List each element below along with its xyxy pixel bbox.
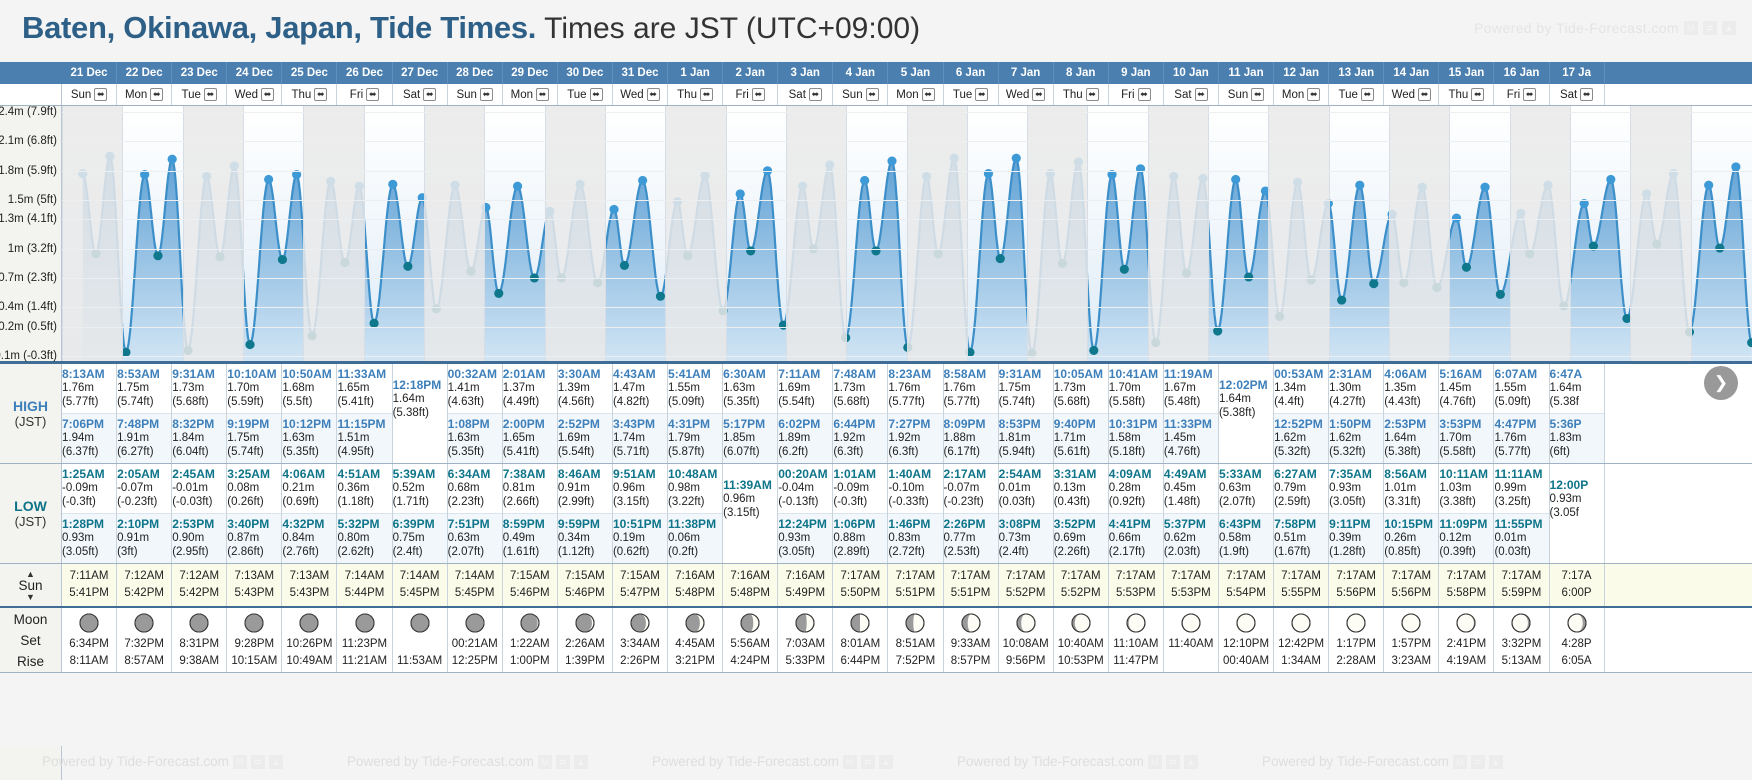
tide-height-m: 0.13m (1054, 481, 1108, 495)
tide-height-ft: (4.43ft) (1384, 395, 1438, 409)
weekday-cell: Wed⬌ (1384, 84, 1439, 105)
logo-badge-3: ▲ (574, 755, 588, 769)
day-stripe (1389, 106, 1449, 361)
tide-height-ft: (6.27ft) (117, 445, 171, 459)
weekday-text: Sun (1228, 84, 1248, 106)
weekday-cell: Sat⬌ (393, 84, 448, 105)
expand-icon[interactable]: ⬌ (150, 88, 163, 101)
moon-phase-icon (298, 612, 320, 634)
tide-time: 3:25AM (227, 467, 281, 481)
sunrise-time: 7:17AM (833, 568, 887, 585)
tide-height-m: 0.84m (282, 531, 336, 545)
sunrise-time: 7:17AM (1384, 568, 1438, 585)
tide-time: 00:32AM (448, 367, 502, 381)
tide-time: 3:53PM (1439, 417, 1493, 431)
tide-column: 7:38AM0.81m(2.66ft)8:59PM0.49m(1.61ft) (503, 464, 558, 563)
moonset-time: 9:33AM (944, 636, 998, 653)
tide-height-m: 1.64m (1384, 431, 1438, 445)
tide-height-m: 1.76m (944, 381, 998, 395)
tide-height-ft: (6.04ft) (172, 445, 226, 459)
date-header-cell[interactable]: 27 Dec (393, 62, 448, 84)
low-tide-point (494, 289, 503, 298)
sun-cell: 7:15AM5:46PM (503, 564, 558, 606)
tide-height-ft: (5.38ft) (1384, 445, 1438, 459)
date-header-cell[interactable]: 31 Dec (613, 62, 668, 84)
date-header-cell[interactable]: 8 Jan (1054, 62, 1109, 84)
sunset-time: 5:51PM (944, 585, 998, 602)
expand-icon[interactable]: ⬌ (1523, 88, 1536, 101)
tide-entry: 4:47PM1.76m(5.77ft) (1494, 413, 1548, 463)
tide-time: 7:48PM (117, 417, 171, 431)
day-stripe (1510, 106, 1570, 361)
weekday-cell: Wed⬌ (999, 84, 1054, 105)
moon-cell: 10:26PM10:49AM (282, 608, 337, 672)
moon-cell: 3:34AM2:26PM (613, 608, 668, 672)
sunset-time: 5:48PM (668, 585, 722, 602)
tide-height-ft: (5.35ft) (282, 445, 336, 459)
tide-height-ft: (2.53ft) (944, 545, 998, 559)
sunset-time: 5:53PM (1109, 585, 1163, 602)
date-header-cell[interactable]: 7 Jan (999, 62, 1054, 84)
tide-height-ft: (5.38f (1550, 395, 1604, 409)
logo-badge-3: ▲ (1184, 755, 1198, 769)
date-header-cell[interactable]: 9 Jan (1109, 62, 1164, 84)
tide-height-m: 1.47m (613, 381, 667, 395)
tide-time: 2:00PM (503, 417, 557, 431)
tide-time: 6:44PM (833, 417, 887, 431)
tide-column: 8:53AM1.75m(5.74ft)7:48PM1.91m(6.27ft) (117, 364, 172, 463)
moon-phase-icon (904, 612, 926, 634)
moon-cell: 4:45AM3:21PM (668, 608, 723, 672)
tide-time: 7:51PM (448, 517, 502, 531)
sun-cell: 7:17AM5:58PM (1439, 564, 1494, 606)
date-header-cell[interactable]: 16 Jan (1494, 62, 1549, 84)
weekday-cell: Mon⬌ (888, 84, 943, 105)
date-header-cell[interactable]: 11 Jan (1219, 62, 1274, 84)
moon-cell: 3:32PM5:13AM (1494, 608, 1549, 672)
weekday-cell: Sun⬌ (1219, 84, 1274, 105)
expand-icon[interactable]: ⬌ (1361, 88, 1374, 101)
moonrise-time: 6:44PM (833, 653, 887, 670)
tide-height-m: 1.55m (668, 381, 722, 395)
date-header-cell[interactable]: 10 Jan (1164, 62, 1219, 84)
tide-height-ft: (5.68ft) (172, 395, 226, 409)
moonset-time: 12:10PM (1219, 636, 1273, 653)
tide-entry: 8:59PM0.49m(1.61ft) (503, 513, 557, 563)
tide-entry: 10:15PM0.26m(0.85ft) (1384, 513, 1438, 563)
expand-icon[interactable]: ⬌ (204, 88, 217, 101)
grid-line (1208, 106, 1209, 361)
expand-icon[interactable]: ⬌ (590, 88, 603, 101)
tide-time: 1:46PM (888, 517, 942, 531)
sun-cell: 7:15AM5:47PM (613, 564, 668, 606)
date-header-cell[interactable]: 23 Dec (172, 62, 227, 84)
date-header-cell[interactable]: 22 Dec (117, 62, 172, 84)
moon-phase-icon (188, 612, 210, 634)
weekday-text: Sat (789, 84, 806, 106)
tide-height-ft: (5.74ft) (227, 445, 281, 459)
date-header-cell[interactable]: 15 Jan (1439, 62, 1494, 84)
tide-height-ft: (0.62ft) (613, 545, 667, 559)
y-axis-tick: 0.7m (2.3ft) (0, 272, 57, 284)
weekday-cell: Thu⬌ (1439, 84, 1494, 105)
date-header-cell[interactable]: 25 Dec (282, 62, 337, 84)
tide-column: 8:23AM1.76m(5.77ft)7:27PM1.92m(6.3ft) (888, 364, 943, 463)
day-stripe (545, 106, 605, 361)
tide-height-m: 1.92m (888, 431, 942, 445)
tide-time: 4:32PM (282, 517, 336, 531)
high-tide-point (168, 155, 177, 164)
grid-line (907, 106, 908, 361)
tide-time: 7:27PM (888, 417, 942, 431)
tide-column: 00:32AM1.41m(4.63ft)1:08PM1.63m(5.35ft) (448, 364, 503, 463)
tide-entry: 8:13AM1.76m(5.77ft) (62, 364, 116, 413)
sunrise-time: 7:17AM (1219, 568, 1273, 585)
y-axis-tick: 0.4m (1.4ft) (0, 301, 57, 313)
tide-entry: 11:55PM0.01m(0.03ft) (1494, 513, 1548, 563)
date-header-cell[interactable]: 28 Dec (448, 62, 503, 84)
y-axis-tick: 0.2m (0.5ft) (0, 321, 57, 333)
moonrise-time: 1:00PM (503, 653, 557, 670)
expand-icon[interactable]: ⬌ (700, 88, 713, 101)
expand-icon[interactable]: ⬌ (809, 88, 822, 101)
logo-badge-1: M (1148, 755, 1162, 769)
date-header-cell[interactable]: 17 Ja (1550, 62, 1605, 84)
tide-height-ft: (5.32ft) (1274, 445, 1328, 459)
tide-height-m: 1.35m (1384, 381, 1438, 395)
expand-icon[interactable]: ⬌ (366, 88, 379, 101)
grid-line (786, 106, 787, 361)
weekday-cell: Sun⬌ (448, 84, 503, 105)
high-tide-point (1136, 164, 1145, 173)
tide-entry: 9:59PM0.34m(1.12ft) (558, 513, 612, 563)
tide-column: 3:31AM0.13m(0.43ft)3:52PM0.69m(2.26ft) (1054, 464, 1109, 563)
grid-line (846, 106, 847, 361)
moonrise-time: 7:52PM (888, 653, 942, 670)
expand-icon[interactable]: ⬌ (1471, 88, 1484, 101)
tide-height-ft: (5.58ft) (1109, 395, 1163, 409)
logo-badge-1: M (233, 755, 247, 769)
tide-time: 4:43AM (613, 367, 667, 381)
weekday-row: Sun⬌Mon⬌Tue⬌Wed⬌Thu⬌Fri⬌Sat⬌Sun⬌Mon⬌Tue⬌… (0, 84, 1752, 106)
tide-entry: 4:32PM0.84m(2.76ft) (282, 513, 336, 563)
tide-height-ft: (0.69ft) (282, 495, 336, 509)
expand-icon[interactable]: ⬌ (866, 88, 879, 101)
moon-phase-icon (133, 612, 155, 634)
weekday-text: Sun (71, 84, 91, 106)
tide-height-ft: (5.77ft) (944, 395, 998, 409)
chart-plot-area (62, 106, 1752, 361)
moonrise-time: 00:40AM (1219, 653, 1273, 670)
high-tide-cells: 8:13AM1.76m(5.77ft)7:06PM1.94m(6.37ft)8:… (62, 364, 1752, 463)
tide-height-ft: (4.76ft) (1164, 445, 1218, 459)
powered-by-text: Powered by Tide-Forecast.com (1474, 20, 1679, 36)
high-label-text: HIGH (13, 398, 48, 414)
moon-phase-icon (684, 612, 706, 634)
day-stripe (1630, 106, 1690, 361)
weekday-cell: Wed⬌ (227, 84, 282, 105)
date-header-cell[interactable]: 14 Jan (1384, 62, 1439, 84)
high-tide-point (513, 182, 522, 191)
expand-icon[interactable]: ⬌ (1418, 88, 1431, 101)
date-header-cell[interactable]: 3 Jan (778, 62, 833, 84)
sun-cell: 7:17AM5:53PM (1164, 564, 1219, 606)
low-tide-point (1337, 296, 1346, 305)
moon-phase-icon (739, 612, 761, 634)
tide-column: 5:33AM0.63m(2.07ft)6:43PM0.58m(1.9ft) (1219, 464, 1274, 563)
weekday-cell: Mon⬌ (503, 84, 558, 105)
weekday-cell: Tue⬌ (172, 84, 227, 105)
day-stripe (665, 106, 725, 361)
tide-time: 8:58AM (944, 367, 998, 381)
grid-line-h (62, 278, 1752, 279)
tide-height-m: 0.01m (1494, 531, 1548, 545)
y-axis-tick: 2.1m (6.8ft) (0, 135, 57, 147)
tide-entry: 2:17AM-0.07m(-0.23ft) (944, 464, 998, 513)
moon-phase-icon (1235, 612, 1257, 634)
sunset-time: 5:44PM (337, 585, 391, 602)
tide-height-ft: (2.07ft) (448, 545, 502, 559)
weekday-text: Wed (1006, 84, 1029, 106)
tide-height-m: 1.37m (503, 381, 557, 395)
expand-icon[interactable]: ⬌ (647, 88, 660, 101)
tide-height-ft: (5.41ft) (337, 395, 391, 409)
expand-icon[interactable]: ⬌ (1580, 88, 1593, 101)
tide-height-m: 1.45m (1164, 431, 1218, 445)
expand-icon[interactable]: ⬌ (1138, 88, 1151, 101)
expand-icon[interactable]: ⬌ (1032, 88, 1045, 101)
weekday-cell: Tue⬌ (1329, 84, 1384, 105)
logo-badge-1: M (538, 755, 552, 769)
weekday-text: Sun (456, 84, 476, 106)
expand-icon[interactable]: ⬌ (1195, 88, 1208, 101)
sunset-time: 5:58PM (1439, 585, 1493, 602)
tide-time: 2:26PM (944, 517, 998, 531)
expand-icon[interactable]: ⬌ (536, 88, 549, 101)
tide-column: 1:25AM-0.09m(-0.3ft)1:28PM0.93m(3.05ft) (62, 464, 117, 563)
tide-column: 2:17AM-0.07m(-0.23ft)2:26PM0.77m(2.53ft) (944, 464, 999, 563)
tide-height-m: 1.69m (778, 381, 832, 395)
tide-time: 9:40PM (1054, 417, 1108, 431)
tide-height-ft: (1.28ft) (1329, 545, 1383, 559)
tide-entry: 10:31PM1.58m(5.18ft) (1109, 413, 1163, 463)
expand-icon[interactable]: ⬌ (752, 88, 765, 101)
expand-icon[interactable]: ⬌ (314, 88, 327, 101)
sunrise-time: 7:17AM (1439, 568, 1493, 585)
tide-column: 3:30AM1.39m(4.56ft)2:52PM1.69m(5.54ft) (558, 364, 613, 463)
tide-entry: 8:46AM0.91m(2.99ft) (558, 464, 612, 513)
tide-time: 00:20AM (778, 467, 832, 481)
moon-cell: 8:31PM9:38AM (172, 608, 227, 672)
tide-entry: 7:35AM0.93m(3.05ft) (1329, 464, 1383, 513)
tide-height-m: 1.75m (999, 381, 1053, 395)
sunrise-time: 7:17AM (888, 568, 942, 585)
moon-cell: 11:40AM (1164, 608, 1219, 672)
sunrise-time: 7:13AM (282, 568, 336, 585)
tide-entry: 4:09AM0.28m(0.92ft) (1109, 464, 1163, 513)
high-tide-label: HIGH (JST) (0, 364, 62, 463)
tide-entry: 4:31PM1.79m(5.87ft) (668, 413, 722, 463)
tide-height-m: 1.65m (337, 381, 391, 395)
low-tide-point (1462, 263, 1471, 272)
date-header-cell[interactable]: 5 Jan (888, 62, 943, 84)
date-header-cell[interactable]: 21 Dec (62, 62, 117, 84)
tide-time: 9:31AM (999, 367, 1053, 381)
tide-column: 2:05AM-0.07m(-0.23ft)2:10PM0.91m(3ft) (117, 464, 172, 563)
expand-icon[interactable]: ⬌ (261, 88, 274, 101)
tide-time: 4:49AM (1164, 467, 1218, 481)
grid-line (484, 106, 485, 361)
date-header-cell[interactable]: 30 Dec (558, 62, 613, 84)
tide-height-m: 1.73m (1054, 381, 1108, 395)
moonrise-time: 9:38AM (172, 653, 226, 670)
tide-height-m: 1.63m (723, 381, 777, 395)
date-header-cell[interactable]: 4 Jan (833, 62, 888, 84)
sunset-arrow-icon: ▼ (26, 593, 35, 601)
day-stripe (1268, 106, 1328, 361)
date-header-cell[interactable]: 2 Jan (723, 62, 778, 84)
tide-height-m: -0.07m (944, 481, 998, 495)
grid-line (1510, 106, 1511, 361)
date-header-cell[interactable]: 26 Dec (337, 62, 392, 84)
sun-cell: 7:17AM5:50PM (833, 564, 888, 606)
moonrise-time: 5:33PM (778, 653, 832, 670)
weekday-text: Fri (1507, 84, 1520, 106)
tide-entry: 11:33PM1.45m(4.76ft) (1164, 413, 1218, 463)
tide-height-ft: (5.68ft) (833, 395, 887, 409)
tide-column: 4:06AM1.35m(4.43ft)2:53PM1.64m(5.38ft) (1384, 364, 1439, 463)
expand-icon[interactable]: ⬌ (94, 88, 107, 101)
sunset-time: 5:53PM (1164, 585, 1218, 602)
sunset-time: 5:52PM (1054, 585, 1108, 602)
date-header-cell[interactable]: 24 Dec (227, 62, 282, 84)
tide-height-ft: (6.07ft) (723, 445, 777, 459)
tide-height-ft: (-0.3ft) (833, 495, 887, 509)
tide-time: 10:10AM (227, 367, 281, 381)
tide-height-m: 1.30m (1329, 381, 1383, 395)
date-header-cell[interactable]: 12 Jan (1274, 62, 1329, 84)
moon-cell: 11:53AM (393, 608, 448, 672)
tide-height-m: 0.63m (1219, 481, 1273, 495)
moon-phase-icon (1015, 612, 1037, 634)
tide-height-ft: (2.86ft) (227, 545, 281, 559)
grid-line-h (62, 112, 1752, 113)
tide-time: 10:50AM (282, 367, 336, 381)
moonset-time: 3:34AM (613, 636, 667, 653)
expand-icon[interactable]: ⬌ (480, 88, 493, 101)
sun-cell: 7:17AM5:59PM (1494, 564, 1549, 606)
low-tide-point (996, 254, 1005, 263)
tide-entry: 2:31AM1.30m(4.27ft) (1329, 364, 1383, 413)
page-subtitle: Times are JST (UTC+09:00) (544, 12, 920, 45)
moonset-time: 7:03AM (778, 636, 832, 653)
moonset-time: 8:01AM (833, 636, 887, 653)
tide-height-m: 0.62m (1164, 531, 1218, 545)
tide-entry: 12:02PM1.64m(5.38ft) (1219, 364, 1273, 463)
tide-time: 12:00P (1550, 478, 1604, 492)
tide-height-ft: (5.38ft) (393, 406, 447, 420)
tide-height-m: 0.88m (833, 531, 887, 545)
tide-height-ft: (2.89ft) (833, 545, 887, 559)
expand-icon[interactable]: ⬌ (975, 88, 988, 101)
grid-line (1630, 106, 1631, 361)
grid-line (1389, 106, 1390, 361)
tide-height-m: 0.49m (503, 531, 557, 545)
sunset-time: 5:56PM (1384, 585, 1438, 602)
tide-height-ft: (5.61ft) (1054, 445, 1108, 459)
tide-height-ft: (5.54ft) (558, 445, 612, 459)
tide-entry: 3:43PM1.74m(5.71ft) (613, 413, 667, 463)
tide-entry: 5:33AM0.63m(2.07ft) (1219, 464, 1273, 513)
date-header-cell[interactable]: 13 Jan (1329, 62, 1384, 84)
moonrise-time: 6:05A (1550, 653, 1604, 670)
tide-height-ft: (-0.13ft) (778, 495, 832, 509)
weekday-text: Fri (1121, 84, 1134, 106)
tide-height-ft: (4.76ft) (1439, 395, 1493, 409)
date-header-cell[interactable]: 6 Jan (944, 62, 999, 84)
tide-height-m: 1.91m (117, 431, 171, 445)
high-tide-point (736, 189, 745, 198)
y-axis-tick: -0.1m (-0.3ft) (0, 350, 57, 362)
expand-icon[interactable]: ⬌ (1086, 88, 1099, 101)
tide-column: 10:50AM1.68m(5.5ft)10:12PM1.63m(5.35ft) (282, 364, 337, 463)
tide-height-m: 0.69m (1054, 531, 1108, 545)
date-header-cell[interactable]: 29 Dec (503, 62, 558, 84)
sun-cell: 7:17AM5:53PM (1109, 564, 1164, 606)
tide-entry: 5:16AM1.45m(4.76ft) (1439, 364, 1493, 413)
expand-icon[interactable]: ⬌ (922, 88, 935, 101)
sunset-time: 5:42PM (117, 585, 171, 602)
tide-time: 2:52PM (558, 417, 612, 431)
tide-time: 1:06PM (833, 517, 887, 531)
tide-height-ft: (2.62ft) (337, 545, 391, 559)
tide-height-m: 0.34m (558, 531, 612, 545)
tide-column: 11:11AM0.99m(3.25ft)11:55PM0.01m(0.03ft) (1494, 464, 1549, 563)
tide-entry: 7:06PM1.94m(6.37ft) (62, 413, 116, 463)
moon-cell: 12:42PM1:34AM (1274, 608, 1329, 672)
tide-entry: 6:39PM0.75m(2.4ft) (393, 513, 447, 563)
logo-badge-3: ▲ (269, 755, 283, 769)
y-axis-tick: 1.3m (4.1ft) (0, 213, 57, 225)
moon-row: Moon Set Rise 6:34PM8:11AM7:32PM8:57AM8:… (0, 608, 1752, 673)
tide-height-m: 1.03m (1439, 481, 1493, 495)
tide-height-m: 1.62m (1274, 431, 1328, 445)
weekday-cell: Fri⬌ (337, 84, 392, 105)
tide-height-m: -0.09m (833, 481, 887, 495)
scroll-right-button[interactable]: ❯ (1704, 366, 1738, 400)
tide-time: 6:30AM (723, 367, 777, 381)
tide-height-ft: (3ft) (117, 545, 171, 559)
tide-height-m: 0.12m (1439, 531, 1493, 545)
tide-height-m: 0.83m (888, 531, 942, 545)
sunrise-time: 7:12AM (172, 568, 226, 585)
expand-icon[interactable]: ⬌ (1251, 88, 1264, 101)
low-tide-point (1496, 290, 1505, 299)
date-header-cell[interactable]: 1 Jan (668, 62, 723, 84)
moonset-time: 4:28P (1550, 636, 1604, 653)
tide-time: 10:31PM (1109, 417, 1163, 431)
high-tide-point (638, 176, 647, 185)
tide-height-m: 1.55m (1494, 381, 1548, 395)
expand-icon[interactable]: ⬌ (1307, 88, 1320, 101)
moon-phase-icon (574, 612, 596, 634)
expand-icon[interactable]: ⬌ (423, 88, 436, 101)
tide-height-m: 1.67m (1164, 381, 1218, 395)
tide-time: 11:33AM (337, 367, 391, 381)
tide-height-ft: (3.25ft) (1494, 495, 1548, 509)
tide-height-ft: (1.18ft) (337, 495, 391, 509)
moonrise-time: 2:28AM (1329, 653, 1383, 670)
